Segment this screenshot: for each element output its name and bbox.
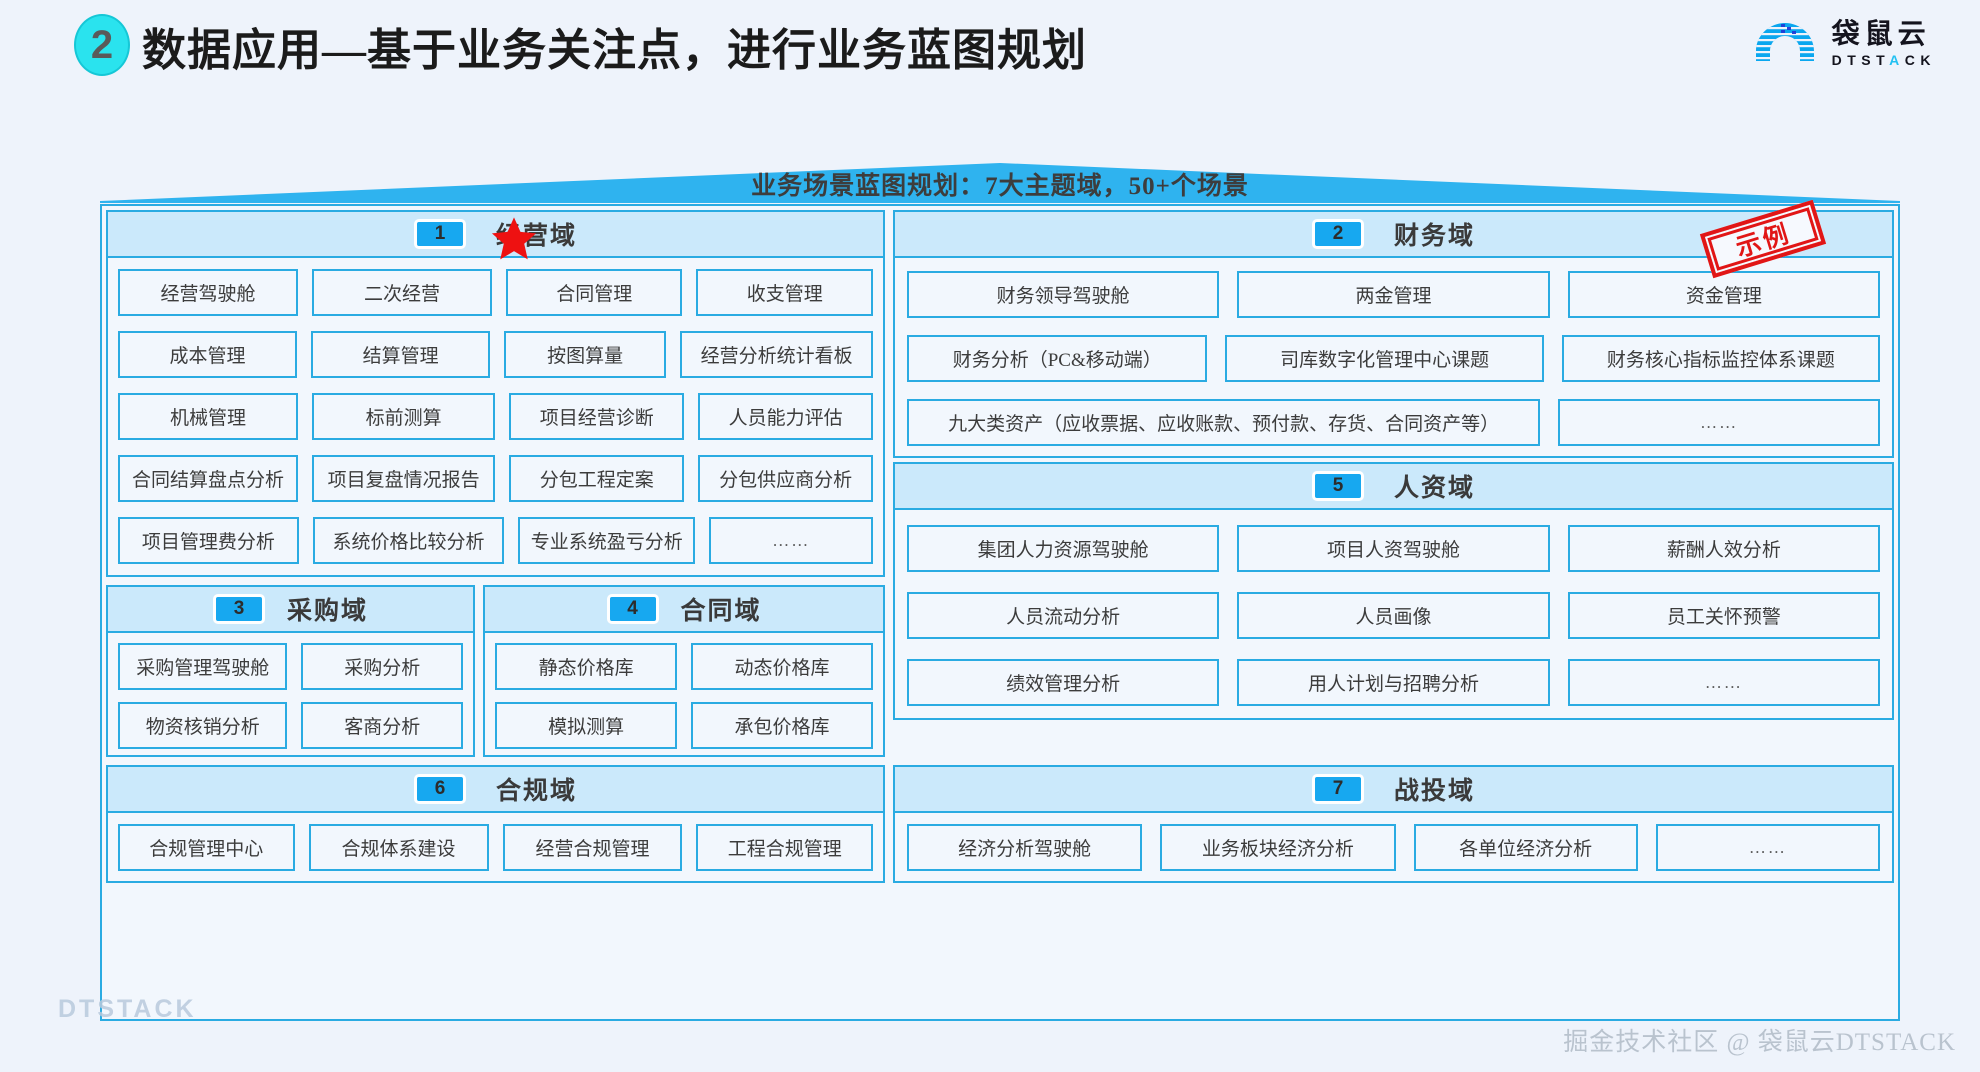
tile-item[interactable]: 绩效管理分析 (907, 659, 1219, 706)
tile-item[interactable]: 静态价格库 (495, 643, 677, 690)
board-lower-left: 6 合规域 合规管理中心 合规体系建设 经营合规管理 工程合规管理 (102, 761, 889, 887)
tile-item[interactable]: 人员画像 (1237, 592, 1549, 639)
tile-item[interactable]: 机械管理 (118, 393, 298, 440)
tile-row: 合规管理中心 合规体系建设 经营合规管理 工程合规管理 (118, 824, 873, 871)
brand-wordmark: 袋鼠云 DTSTACK (1832, 20, 1936, 67)
tile-item[interactable]: 采购分析 (301, 643, 463, 690)
tile-item[interactable]: 薪酬人效分析 (1568, 525, 1880, 572)
tile-item[interactable]: 用人计划与招聘分析 (1237, 659, 1549, 706)
tile-row: 集团人力资源驾驶舱 项目人资驾驶舱 薪酬人效分析 (907, 525, 1880, 572)
tile-area-hr: 集团人力资源驾驶舱 项目人资驾驶舱 薪酬人效分析 人员流动分析 人员画像 员工关… (895, 510, 1892, 718)
tile-area-operations: 经营驾驶舱 二次经营 合同管理 收支管理 成本管理 结算管理 按图算量 经营分析… (108, 258, 883, 575)
board-upper-row: 1 经营域 经营驾驶舱 二次经营 合同管理 收支管理 (102, 206, 1898, 761)
domain-number-badge-1: 1 (414, 219, 466, 249)
tile-item[interactable]: 两金管理 (1237, 271, 1549, 318)
tile-area-contract: 静态价格库 动态价格库 模拟测算 承包价格库 (485, 633, 883, 755)
domain-title-procurement: 采购域 (287, 591, 368, 627)
tile-item[interactable]: 各单位经济分析 (1414, 824, 1638, 871)
tile-item[interactable]: 九大类资产（应收票据、应收账款、预付款、存货、合同资产等） (907, 399, 1540, 446)
brand-logo: 袋鼠云 DTSTACK (1750, 20, 1936, 67)
tile-item[interactable]: 工程合规管理 (696, 824, 873, 871)
tile-row: 模拟测算 承包价格库 (495, 702, 873, 749)
tile-item-ellipsis[interactable]: …… (1568, 659, 1880, 706)
tile-item[interactable]: 资金管理 (1568, 271, 1880, 318)
domain-title-hr: 人资域 (1394, 468, 1475, 504)
domain-header-finance: 2 财务域 示例 (895, 212, 1892, 258)
domain-card-procurement[interactable]: 3 采购域 采购管理驾驶舱 采购分析 物资核销分析 客商分析 (106, 585, 475, 757)
tile-item[interactable]: 员工关怀预警 (1568, 592, 1880, 639)
domain-number-badge-4: 4 (607, 594, 659, 624)
domain-card-finance[interactable]: 2 财务域 示例 财务领导驾驶舱 两金管理 资金管理 财务分析（PC&移动端） … (893, 210, 1894, 458)
tile-row: 九大类资产（应收票据、应收账款、预付款、存货、合同资产等） …… (907, 399, 1880, 446)
tile-item[interactable]: 分包供应商分析 (698, 455, 873, 502)
tile-item[interactable]: 财务核心指标监控体系课题 (1562, 335, 1880, 382)
tile-item-ellipsis[interactable]: …… (1558, 399, 1880, 446)
tile-item[interactable]: 合同结算盘点分析 (118, 455, 298, 502)
tile-area-procurement: 采购管理驾驶舱 采购分析 物资核销分析 客商分析 (108, 633, 473, 755)
tile-item[interactable]: 项目人资驾驶舱 (1237, 525, 1549, 572)
tile-item[interactable]: 业务板块经济分析 (1160, 824, 1395, 871)
domain-number-badge-2: 2 (1312, 219, 1364, 249)
tile-item[interactable]: 合规体系建设 (309, 824, 489, 871)
tile-area-compliance: 合规管理中心 合规体系建设 经营合规管理 工程合规管理 (108, 813, 883, 881)
slide-header: 2 数据应用—基于业务关注点，进行业务蓝图规划 (0, 0, 1980, 110)
domain-title-contract: 合同域 (681, 591, 762, 627)
tile-row: 项目管理费分析 系统价格比较分析 专业系统盈亏分析 …… (118, 517, 873, 564)
tile-item[interactable]: 集团人力资源驾驶舱 (907, 525, 1219, 572)
tile-item[interactable]: 承包价格库 (691, 702, 873, 749)
board-lower-row: 6 合规域 合规管理中心 合规体系建设 经营合规管理 工程合规管理 7 战投域 (102, 761, 1898, 887)
tile-item[interactable]: 系统价格比较分析 (313, 517, 504, 564)
tile-item[interactable]: 分包工程定案 (509, 455, 684, 502)
domain-card-investment[interactable]: 7 战投域 经济分析驾驶舱 业务板块经济分析 各单位经济分析 …… (893, 765, 1894, 883)
domain-header-investment: 7 战投域 (895, 767, 1892, 813)
tile-item[interactable]: 经营驾驶舱 (118, 269, 298, 316)
domain-pair-procurement-contract: 3 采购域 采购管理驾驶舱 采购分析 物资核销分析 客商分析 (102, 581, 889, 761)
domain-number-badge-3: 3 (213, 594, 265, 624)
tile-item[interactable]: 收支管理 (696, 269, 873, 316)
tile-item[interactable]: 动态价格库 (691, 643, 873, 690)
tile-row: 成本管理 结算管理 按图算量 经营分析统计看板 (118, 331, 873, 378)
tile-item[interactable]: 经营合规管理 (503, 824, 683, 871)
tile-item[interactable]: 财务分析（PC&移动端） (907, 335, 1207, 382)
tile-row: 静态价格库 动态价格库 (495, 643, 873, 690)
domain-header-operations: 1 经营域 (108, 212, 883, 258)
watermark-juejin: 掘金技术社区 @ 袋鼠云DTSTACK (1563, 1022, 1956, 1058)
tile-row: 机械管理 标前测算 项目经营诊断 人员能力评估 (118, 393, 873, 440)
tile-area-investment: 经济分析驾驶舱 业务板块经济分析 各单位经济分析 …… (895, 813, 1892, 881)
domain-number-badge-5: 5 (1312, 471, 1364, 501)
tile-item[interactable]: 经营分析统计看板 (680, 331, 873, 378)
domain-header-compliance: 6 合规域 (108, 767, 883, 813)
domain-header-contract: 4 合同域 (485, 587, 883, 633)
tile-row: 绩效管理分析 用人计划与招聘分析 …… (907, 659, 1880, 706)
brand-name-en: DTSTACK (1832, 53, 1936, 67)
example-stamp-label: 示例 (1731, 214, 1795, 265)
roof-shape (100, 163, 1900, 203)
domain-number-badge-7: 7 (1312, 774, 1364, 804)
tile-item[interactable]: 项目管理费分析 (118, 517, 299, 564)
domain-number-badge-6: 6 (414, 774, 466, 804)
tile-item[interactable]: 经济分析驾驶舱 (907, 824, 1142, 871)
tile-area-finance: 财务领导驾驶舱 两金管理 资金管理 财务分析（PC&移动端） 司库数字化管理中心… (895, 258, 1892, 456)
tile-item[interactable]: 项目复盘情况报告 (312, 455, 495, 502)
tile-item[interactable]: 模拟测算 (495, 702, 677, 749)
domain-card-compliance[interactable]: 6 合规域 合规管理中心 合规体系建设 经营合规管理 工程合规管理 (106, 765, 885, 883)
domain-header-hr: 5 人资域 (895, 464, 1892, 510)
domain-title-finance: 财务域 (1394, 216, 1475, 252)
tile-item-ellipsis[interactable]: …… (709, 517, 873, 564)
tile-item[interactable]: 采购管理驾驶舱 (118, 643, 287, 690)
tile-item[interactable]: 合规管理中心 (118, 824, 295, 871)
board-lower-right: 7 战投域 经济分析驾驶舱 业务板块经济分析 各单位经济分析 …… (889, 761, 1898, 887)
domain-title-compliance: 合规域 (496, 771, 577, 807)
tile-item[interactable]: 客商分析 (301, 702, 463, 749)
domain-card-operations[interactable]: 1 经营域 经营驾驶舱 二次经营 合同管理 收支管理 (106, 210, 885, 577)
tile-item[interactable]: 按图算量 (504, 331, 666, 378)
tile-item[interactable]: 二次经营 (312, 269, 492, 316)
watermark-dtstack: DTSTACK (58, 995, 197, 1024)
tile-item-ellipsis[interactable]: …… (1656, 824, 1880, 871)
dtstack-logo-icon (1750, 21, 1820, 67)
tile-row: 经济分析驾驶舱 业务板块经济分析 各单位经济分析 …… (907, 824, 1880, 871)
tile-row: 财务领导驾驶舱 两金管理 资金管理 (907, 271, 1880, 318)
tile-item[interactable]: 司库数字化管理中心课题 (1225, 335, 1543, 382)
tile-row: 采购管理驾驶舱 采购分析 (118, 643, 463, 690)
tile-item[interactable]: 专业系统盈亏分析 (518, 517, 695, 564)
tile-item[interactable]: 成本管理 (118, 331, 297, 378)
domain-card-contract[interactable]: 4 合同域 静态价格库 动态价格库 模拟测算 承包价格库 (483, 585, 885, 757)
tile-item[interactable]: 合同管理 (506, 269, 683, 316)
tile-row: 财务分析（PC&移动端） 司库数字化管理中心课题 财务核心指标监控体系课题 (907, 335, 1880, 382)
tile-row: 合同结算盘点分析 项目复盘情况报告 分包工程定案 分包供应商分析 (118, 455, 873, 502)
domain-header-procurement: 3 采购域 (108, 587, 473, 633)
brand-name-cn: 袋鼠云 (1832, 20, 1936, 48)
tile-row: 物资核销分析 客商分析 (118, 702, 463, 749)
tile-item[interactable]: 物资核销分析 (118, 702, 287, 749)
tile-item[interactable]: 项目经营诊断 (509, 393, 684, 440)
step-number-label: 2 (91, 23, 113, 68)
tile-item[interactable]: 财务领导驾驶舱 (907, 271, 1219, 318)
tile-row: 人员流动分析 人员画像 员工关怀预警 (907, 592, 1880, 639)
tile-item[interactable]: 标前测算 (312, 393, 495, 440)
red-star-icon (488, 214, 540, 264)
page-title: 数据应用—基于业务关注点，进行业务蓝图规划 (142, 14, 1087, 78)
domain-title-investment: 战投域 (1394, 771, 1475, 807)
tile-row: 经营驾驶舱 二次经营 合同管理 收支管理 (118, 269, 873, 316)
board-right-column: 2 财务域 示例 财务领导驾驶舱 两金管理 资金管理 财务分析（PC&移动端） … (889, 206, 1898, 761)
board-left-column: 1 经营域 经营驾驶舱 二次经营 合同管理 收支管理 (102, 206, 889, 761)
blueprint-board: 1 经营域 经营驾驶舱 二次经营 合同管理 收支管理 (100, 204, 1900, 1021)
tile-item[interactable]: 结算管理 (311, 331, 490, 378)
tile-item[interactable]: 人员流动分析 (907, 592, 1219, 639)
step-number-badge: 2 (74, 14, 130, 76)
tile-item[interactable]: 人员能力评估 (698, 393, 873, 440)
domain-card-hr[interactable]: 5 人资域 集团人力资源驾驶舱 项目人资驾驶舱 薪酬人效分析 人员流动分析 人员… (893, 462, 1894, 720)
